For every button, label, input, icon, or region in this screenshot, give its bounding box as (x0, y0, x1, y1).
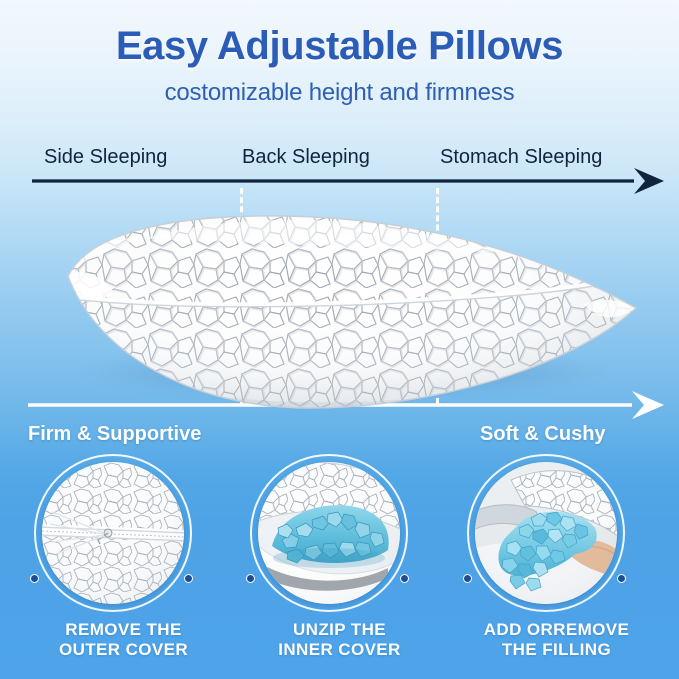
infographic-canvas: Easy Adjustable Pillows costomizable hei… (0, 0, 679, 679)
step-3-dot-left (463, 574, 472, 583)
step-1-caption-line2: OUTER COVER (6, 640, 241, 660)
step-1-caption: REMOVE THE OUTER COVER (6, 620, 241, 660)
step-2-photo (258, 462, 400, 604)
step-1-photo (42, 462, 184, 604)
sleep-label-side: Side Sleeping (44, 146, 167, 169)
sleep-label-stomach: Stomach Sleeping (440, 146, 602, 169)
step-2-dot-left (246, 574, 255, 583)
sleep-label-back: Back Sleeping (242, 146, 370, 169)
step-2-caption-line2: INNER COVER (222, 640, 457, 660)
pillow-svg (50, 206, 679, 416)
step-1: REMOVE THE OUTER COVER (16, 452, 231, 612)
pillow-illustration (50, 206, 640, 406)
step-2: UNZIP THE INNER COVER (232, 452, 447, 612)
step-3-caption: ADD ORREMOVE THE FILLING (439, 620, 674, 660)
step-3-photo (475, 462, 617, 604)
step-2-caption: UNZIP THE INNER COVER (222, 620, 457, 660)
step-3-caption-line1: ADD ORREMOVE (439, 620, 674, 640)
step-2-dot-right (400, 574, 409, 583)
step-3-dot-right (617, 574, 626, 583)
step-3-caption-line2: THE FILLING (439, 640, 674, 660)
page-title: Easy Adjustable Pillows (0, 24, 679, 69)
step-1-dot-left (30, 574, 39, 583)
firmness-label-soft: Soft & Cushy (480, 423, 606, 446)
step-3: ADD ORREMOVE THE FILLING (449, 452, 664, 612)
sleep-arrow-icon (32, 168, 664, 194)
step-1-dot-right (184, 574, 193, 583)
step-2-caption-line1: UNZIP THE (222, 620, 457, 640)
firmness-label-firm: Firm & Supportive (28, 423, 201, 446)
step-1-caption-line1: REMOVE THE (6, 620, 241, 640)
page-subtitle: costomizable height and firmness (0, 79, 679, 107)
